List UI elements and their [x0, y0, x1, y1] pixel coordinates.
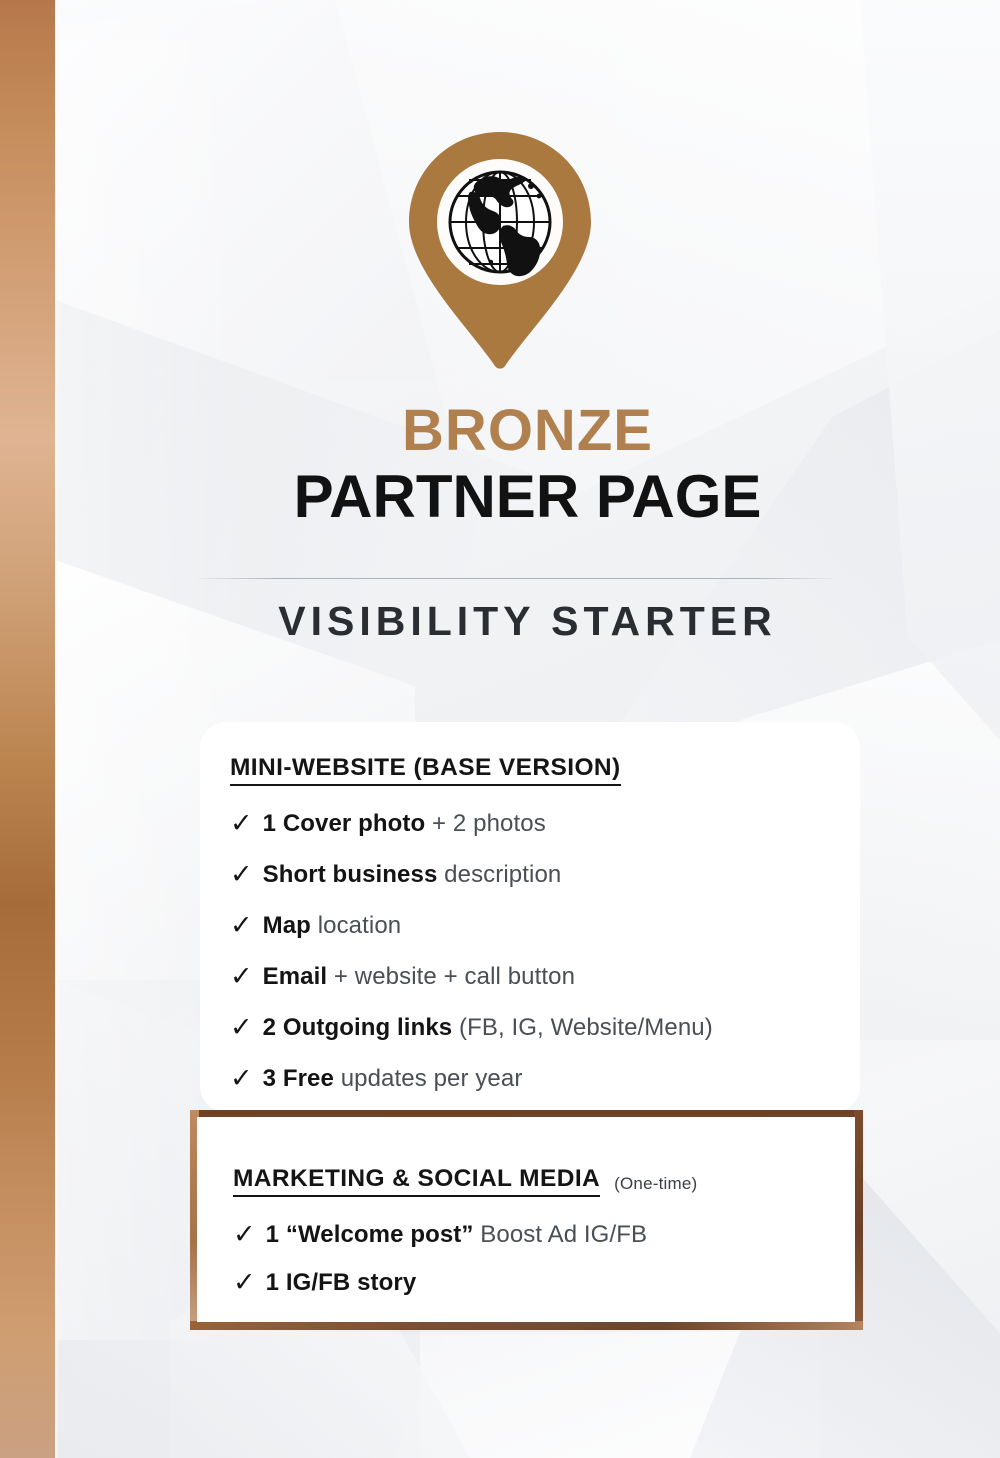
list-item-bold: 1 “Welcome post” [266, 1221, 474, 1248]
list-item-bold: 3 Free [263, 1065, 334, 1092]
list-item: ✓ 3 Free updates per year [230, 1055, 860, 1100]
list-item: ✓ 1 IG/FB story [233, 1259, 855, 1304]
check-icon: ✓ [233, 1269, 256, 1296]
check-icon: ✓ [230, 912, 253, 939]
list-item-bold: 1 Cover photo [263, 810, 426, 837]
partner-page-poster: BRONZE PARTNER PAGE VISIBILITY STARTER M… [0, 0, 1000, 1458]
feature-list: ✓ 1 “Welcome post” Boost Ad IG/FB ✓ 1 IG… [233, 1211, 855, 1304]
check-icon: ✓ [233, 1221, 256, 1248]
list-item-rest: + 2 photos [425, 810, 546, 837]
list-item-rest: updates per year [334, 1065, 523, 1092]
list-item: ✓ Map location [230, 902, 860, 947]
list-item: ✓ Email + website + call button [230, 953, 860, 998]
list-item: ✓ 1 Cover photo + 2 photos [230, 800, 860, 845]
title-block: BRONZE PARTNER PAGE [55, 400, 1000, 531]
list-item: ✓ 2 Outgoing links (FB, IG, Website/Menu… [230, 1004, 860, 1049]
check-icon: ✓ [230, 1065, 253, 1092]
list-item-rest: + website + call button [327, 963, 575, 990]
list-item-bold: Email [263, 963, 328, 990]
card-marketing-frame: MARKETING & SOCIAL MEDIA (One-time) ✓ 1 … [190, 1110, 863, 1330]
list-item-rest: (FB, IG, Website/Menu) [452, 1014, 713, 1041]
list-item-text: Map location [263, 914, 402, 938]
list-item-text: 1 Cover photo + 2 photos [263, 812, 546, 836]
card-mini-website: MINI-WEBSITE (BASE VERSION) ✓ 1 Cover ph… [200, 722, 860, 1112]
subtitle: VISIBILITY STARTER [55, 598, 1000, 645]
section-heading: MARKETING & SOCIAL MEDIA [233, 1165, 600, 1197]
section-heading-row: MARKETING & SOCIAL MEDIA (One-time) [233, 1165, 855, 1197]
tier-label: BRONZE [55, 400, 1000, 461]
check-icon: ✓ [230, 861, 253, 888]
feature-list: ✓ 1 Cover photo + 2 photos ✓ Short busin… [230, 800, 860, 1100]
page-title: PARTNER PAGE [55, 463, 1000, 530]
list-item-text: 1 IG/FB story [266, 1271, 417, 1295]
list-item-bold: Map [263, 912, 311, 939]
section-heading: MINI-WEBSITE (BASE VERSION) [230, 754, 621, 786]
frame-right-edge [854, 1110, 863, 1330]
check-icon: ✓ [230, 1014, 253, 1041]
list-item-text: Email + website + call button [263, 965, 575, 989]
list-item-bold: Short business [263, 861, 438, 888]
one-time-badge: (One-time) [614, 1174, 697, 1197]
list-item-bold: 2 Outgoing links [263, 1014, 453, 1041]
card-shadow [196, 1322, 856, 1336]
list-item-bold: 1 IG/FB story [266, 1269, 417, 1296]
list-item: ✓ 1 “Welcome post” Boost Ad IG/FB [233, 1211, 855, 1256]
check-icon: ✓ [230, 963, 253, 990]
list-item-text: Short business description [263, 863, 562, 887]
list-item-rest: Boost Ad IG/FB [474, 1221, 648, 1248]
map-pin-globe-icon [407, 130, 593, 370]
list-item-rest: description [437, 861, 561, 888]
list-item: ✓ Short business description [230, 851, 860, 896]
logo [0, 130, 1000, 370]
list-item-text: 1 “Welcome post” Boost Ad IG/FB [266, 1223, 647, 1247]
list-item-text: 3 Free updates per year [263, 1067, 523, 1091]
list-item-text: 2 Outgoing links (FB, IG, Website/Menu) [263, 1016, 713, 1040]
card-marketing-social-media: MARKETING & SOCIAL MEDIA (One-time) ✓ 1 … [197, 1117, 855, 1322]
title-divider [198, 578, 834, 579]
check-icon: ✓ [230, 810, 253, 837]
list-item-rest: location [311, 912, 401, 939]
